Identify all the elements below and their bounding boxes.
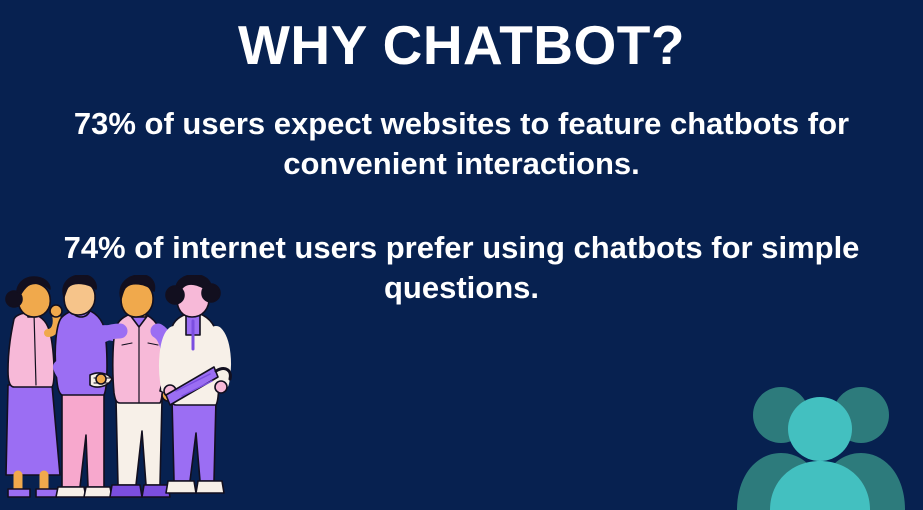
figure-woman-cream-hoodie	[164, 275, 230, 493]
figure-woman-pink-top	[6, 277, 62, 497]
page-title: WHY CHATBOT?	[0, 16, 923, 75]
stat-paragraph-1: 73% of users expect websites to feature …	[0, 104, 923, 183]
people-group-icon	[729, 385, 909, 510]
slide-canvas: WHY CHATBOT? 73% of users expect website…	[0, 0, 923, 510]
four-people-conversation-illustration	[0, 275, 236, 510]
